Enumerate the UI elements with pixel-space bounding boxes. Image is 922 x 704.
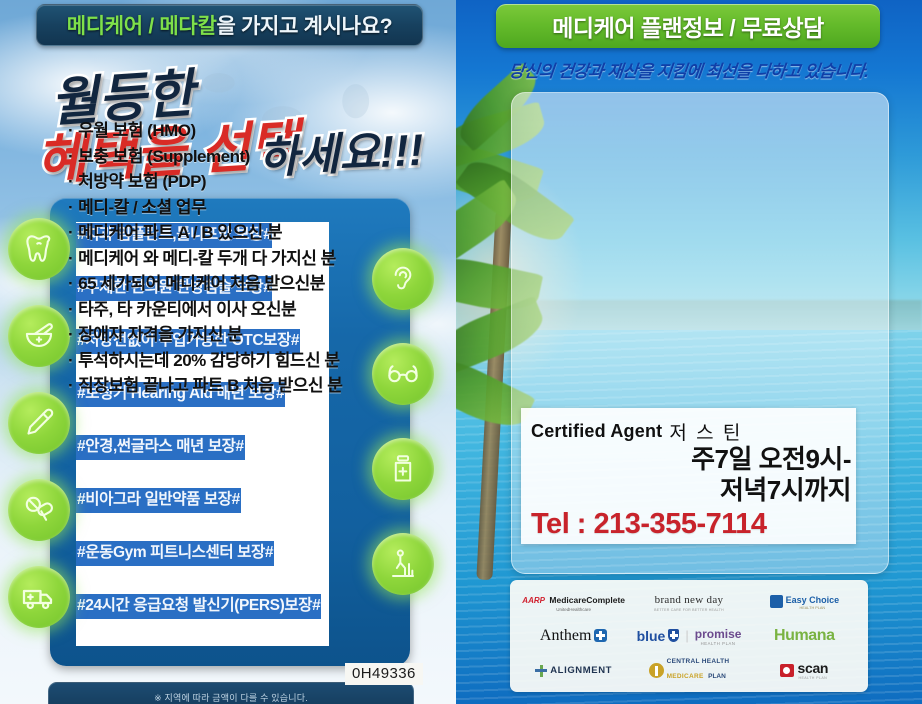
business-hours: 주7일 오전9시- 저녁7시까지 [531, 444, 851, 506]
phone-number-text: Tel : 213-355-7114 [531, 508, 767, 541]
scan-mark [780, 664, 794, 677]
alignment-cross-mark [535, 665, 547, 677]
tooth-icon [8, 218, 70, 280]
agent-name: 저 스 틴 [669, 418, 742, 445]
right-header-text: 메디케어 플랜정보 / 무료상담 [552, 9, 823, 43]
logo-scan: scanHEALTH PLAN [780, 661, 828, 681]
medicine-bottle-icon [372, 438, 434, 500]
watermark: 0H49336 [345, 663, 423, 685]
bullet-item: ·65 세가되어 메디케어 처음 받으신분 [68, 271, 438, 297]
left-header-banner: 메디케어 / 메다칼을 가지고 계시나요? [36, 4, 423, 46]
logo-blue-promise: blue | promiseHEALTH PLAN [637, 626, 742, 646]
left-header-highlight: 메디케어 / 메다칼 [67, 15, 217, 38]
eligibility-bullet-list: ·우월 보험 (HMO) ·보충 보험 (Supplement) ·처방약 보험… [68, 118, 438, 399]
logo-central-health-medicare-plan: CENTRAL HEALTHMEDICARE PLAN [649, 659, 730, 682]
phone-number[interactable]: Tel : 213-355-7114 [531, 506, 851, 542]
carrier-logo-grid: AARP MedicareCompleteUnitedHealthcare br… [510, 580, 868, 692]
feature-item: #비아그라 일반약품 보장# [76, 487, 241, 513]
fitness-icon [372, 533, 434, 595]
logo-alignment: ALIGNMENT [535, 665, 612, 677]
mortar-pestle-icon [8, 305, 70, 367]
bullet-item: ·보충 보험 (Supplement) [68, 144, 438, 170]
left-header-rest: 을 가지고 계시나요? [216, 15, 392, 38]
disclaimer-text: ※ 지역에 따라 금액이 다를 수 있습니다. [154, 691, 308, 704]
bullet-item: ·직장보험 끝나고 파트 B 처음 받으신 분 [68, 373, 438, 399]
feature-item: #24시간 응급요청 발신기(PERS)보장# [76, 593, 321, 619]
central-health-mark [649, 663, 664, 678]
logo-brand-new-day: brand new dayBETTER CARE FOR BETTER HEAL… [654, 591, 724, 613]
agent-label: Certified Agent [531, 421, 662, 442]
bullet-item: ·타주, 타 카운티에서 이사 오신분 [68, 297, 438, 323]
right-header-banner: 메디케어 플랜정보 / 무료상담 [496, 4, 880, 48]
anthem-cross-mark [594, 629, 607, 642]
bullet-item: ·장애자 자격을 가지신 분 [68, 322, 438, 348]
agent-line: Certified Agent 저 스 틴 [531, 418, 851, 444]
bullet-item: ·처방약 보험 (PDP) [68, 169, 438, 195]
feature-item: #안경,썬글라스 매년 보장# [76, 434, 245, 460]
thermometer-icon [8, 392, 70, 454]
bullet-item: ·우월 보험 (HMO) [68, 118, 438, 144]
ambulance-icon [8, 566, 70, 628]
feature-item: #운동Gym 피트니스센터 보장# [76, 540, 274, 566]
right-subtitle-text: 당신의 건강과 재산을 지킴에 최선을 다하고 있습니다. [508, 57, 870, 82]
bullet-item: ·투석하시는데 20% 감당하기 힘드신 분 [68, 348, 438, 374]
right-subtitle: 당신의 건강과 재산을 지킴에 최선을 다하고 있습니다. [456, 52, 922, 86]
logo-anthem: Anthem [540, 628, 608, 644]
blue-shield-mark [668, 629, 679, 642]
bullet-item: ·메디케어 와 메디-칼 두개 다 가지신 분 [68, 246, 438, 272]
logo-humana: Humana [774, 628, 835, 644]
hours-line-1: 주7일 오전9시- [531, 444, 851, 475]
bullet-item: ·메디-칼 / 소셜 업무 [68, 195, 438, 221]
logo-aarp-medicarecomplete: AARP MedicareCompleteUnitedHealthcare [522, 591, 625, 613]
bullet-item: ·메디케어 파트 A / B 있으신 분 [68, 220, 438, 246]
medicare-ad-poster: 메디케어 / 메다칼을 가지고 계시나요? 월등한 혜택을 선택 하세요!!! … [0, 0, 922, 704]
easy-choice-mark [770, 595, 783, 608]
logo-easy-choice: Easy ChoiceHEALTH PLAN [770, 591, 840, 611]
hours-line-2: 저녁7시까지 [531, 475, 851, 506]
left-disclaimer-bar: ※ 지역에 따라 금액이 다를 수 있습니다. [48, 682, 414, 704]
pills-icon [8, 479, 70, 541]
